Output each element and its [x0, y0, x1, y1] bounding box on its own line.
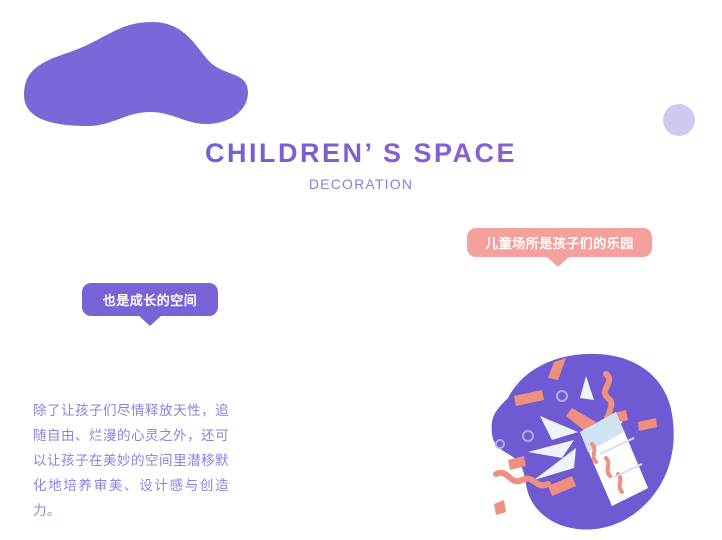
party-popper-illustration	[466, 340, 696, 540]
badge-pink-tail	[546, 256, 570, 267]
slide-canvas: CHILDREN’ S SPACE DECORATION 儿童场所是孩子们的乐园…	[0, 0, 722, 540]
body-paragraph: 除了让孩子们尽情释放天性，追随自由、烂漫的心灵之外，还可以让孩子在美妙的空间里潜…	[33, 398, 229, 523]
page-subtitle: DECORATION	[0, 176, 722, 192]
badge-purple: 也是成长的空间	[82, 283, 218, 316]
decorative-blob-bottom-right	[492, 354, 674, 530]
badge-purple-tail	[138, 315, 162, 326]
page-title: CHILDREN’ S SPACE	[0, 138, 722, 169]
badge-pink: 儿童场所是孩子们的乐园	[467, 228, 652, 257]
badge-purple-label: 也是成长的空间	[103, 290, 198, 309]
decorative-circle-right	[663, 104, 695, 136]
badge-pink-label: 儿童场所是孩子们的乐园	[485, 233, 634, 252]
decorative-blob-top-left	[0, 0, 270, 145]
